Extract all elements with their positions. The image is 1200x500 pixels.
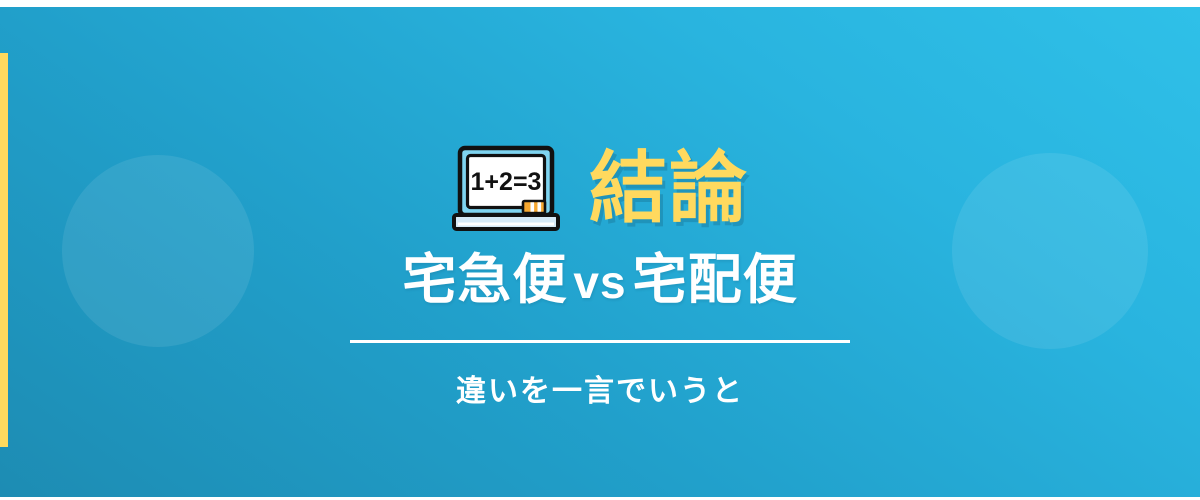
title-right: 宅配便 [633, 250, 798, 310]
banner-root: 1+2=3 結論 宅急便vs宅配便 違いを一言でいうと [0, 0, 1200, 500]
subtitle-text: 違いを一言でいうと [456, 377, 744, 407]
banner-panel: 1+2=3 結論 宅急便vs宅配便 違いを一言でいうと [0, 7, 1200, 497]
whiteboard-icon: 1+2=3 [451, 145, 567, 237]
banner-content: 1+2=3 結論 宅急便vs宅配便 違いを一言でいうと [0, 7, 1200, 497]
kicker-text: 結論 [589, 149, 749, 233]
svg-text:1+2=3: 1+2=3 [471, 168, 542, 196]
title-vs: vs [567, 256, 632, 308]
divider [350, 340, 850, 343]
page-title: 宅急便vs宅配便 [402, 251, 797, 310]
headline-row: 1+2=3 結論 [451, 137, 749, 245]
title-left: 宅急便 [402, 250, 567, 310]
